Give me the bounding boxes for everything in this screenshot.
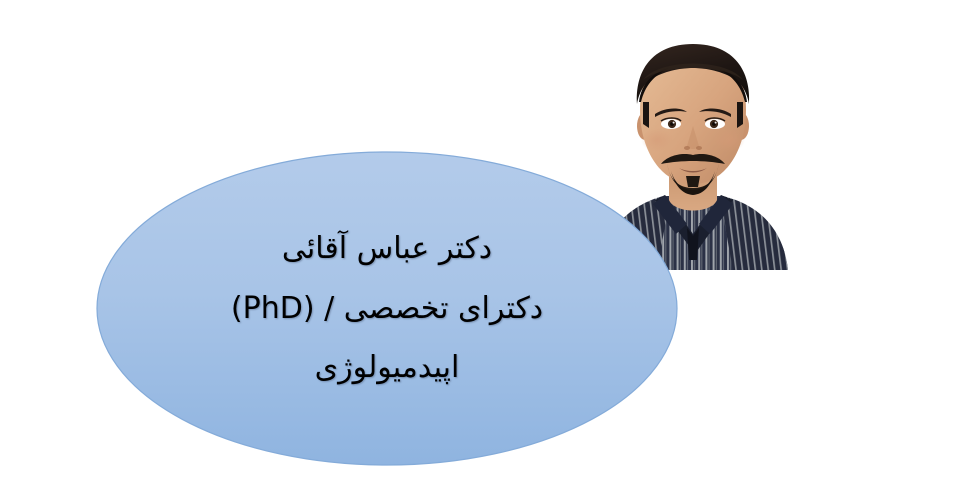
blue-ellipse-shape[interactable]: دکتر عباس آقائی دکترای تخصصی / (PhD) اپی…: [96, 151, 678, 466]
slide-canvas: دکتر عباس آقائی دکترای تخصصی / (PhD) اپی…: [0, 0, 965, 479]
ellipse-graphic: [96, 151, 678, 466]
